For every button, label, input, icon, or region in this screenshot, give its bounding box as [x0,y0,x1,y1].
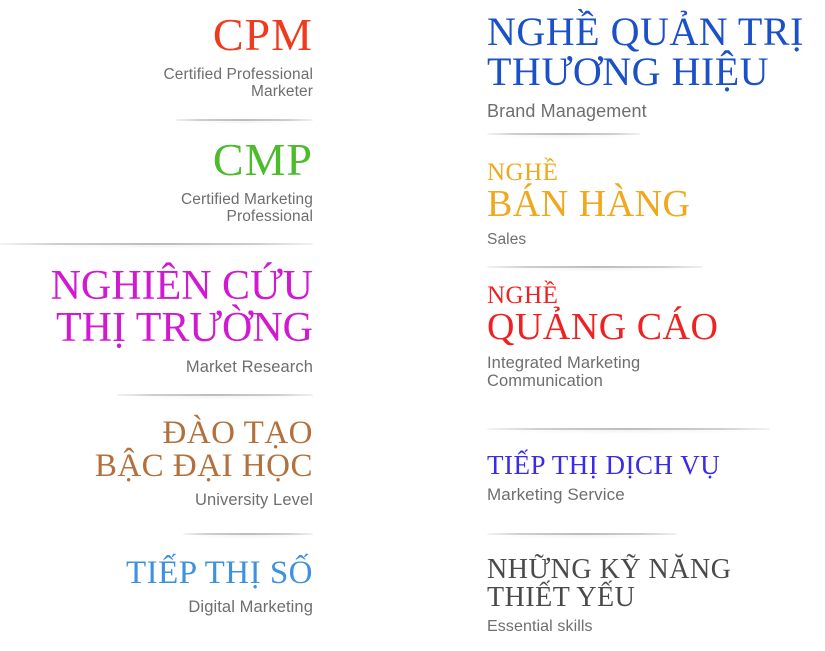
entry-university-level[interactable]: ĐÀO TẠO BẬC ĐẠI HỌC University Level [95,417,313,509]
entry-cpm-subtitle-line-2: Marketer [163,83,313,100]
entry-brand-management-subtitle-line-1: Brand Management [487,101,804,121]
entry-university-level-subtitle: University Level [95,491,313,509]
entry-market-research-title: NGHIÊN CỨU THỊ TRƯỜNG [51,265,313,349]
entry-market-research-title-line-2: THỊ TRƯỜNG [51,307,313,349]
entry-advertising-title-line-1: NGHỀ [487,283,718,308]
entry-cpm-subtitle: Certified Professional Marketer [163,66,313,101]
entry-cpm-title: CPM [163,12,313,58]
entry-advertising-subtitle: Integrated Marketing Communication [487,354,718,391]
entry-cpm-subtitle-line-1: Certified Professional [163,66,313,83]
left-divider-2 [0,243,313,245]
entry-essential-skills-title-line-2: THIẾT YẾU [487,584,731,612]
left-divider-4 [183,533,313,535]
entry-cmp-title: CMP [181,137,313,183]
entry-sales-title-line-2: BÁN HÀNG [487,185,691,223]
entry-cmp[interactable]: CMP Certified Marketing Professional [181,137,313,226]
entry-digital-marketing-subtitle-line-1: Digital Marketing [126,598,313,616]
entry-essential-skills-title-line-1: NHỮNG KỸ NĂNG [487,556,731,584]
entry-brand-management-title-line-1: NGHỀ QUẢN TRỊ [487,12,804,52]
entry-sales-subtitle: Sales [487,231,691,248]
poster-canvas: CPM Certified Professional Marketer CMP … [0,0,825,651]
entry-marketing-service-title: TIẾP THỊ DỊCH VỤ [487,452,720,479]
entry-essential-skills[interactable]: NHỮNG KỸ NĂNG THIẾT YẾU Essential skills [487,556,731,636]
entry-advertising-subtitle-line-2: Communication [487,372,718,390]
entry-university-level-title-line-1: ĐÀO TẠO [95,417,313,450]
right-divider-2 [487,266,703,268]
entry-marketing-service-title-line-1: TIẾP THỊ DỊCH VỤ [487,452,720,479]
entry-essential-skills-title: NHỮNG KỸ NĂNG THIẾT YẾU [487,556,731,612]
entry-market-research[interactable]: NGHIÊN CỨU THỊ TRƯỜNG Market Research [51,265,313,376]
left-divider-1 [175,119,313,121]
entry-cmp-subtitle: Certified Marketing Professional [181,191,313,226]
entry-sales-title: NGHỀ BÁN HÀNG [487,160,691,223]
entry-market-research-subtitle: Market Research [51,358,313,376]
entry-advertising-subtitle-line-1: Integrated Marketing [487,354,718,372]
entry-digital-marketing-subtitle: Digital Marketing [126,598,313,616]
entry-sales-subtitle-line-1: Sales [487,231,691,248]
entry-marketing-service[interactable]: TIẾP THỊ DỊCH VỤ Marketing Service [487,452,720,504]
entry-brand-management-title: NGHỀ QUẢN TRỊ THƯƠNG HIỆU [487,12,804,92]
entry-sales[interactable]: NGHỀ BÁN HÀNG Sales [487,160,691,248]
entry-essential-skills-subtitle: Essential skills [487,618,731,636]
entry-brand-management[interactable]: NGHỀ QUẢN TRỊ THƯƠNG HIỆU Brand Manageme… [487,12,804,121]
entry-marketing-service-subtitle: Marketing Service [487,485,720,504]
entry-cpm[interactable]: CPM Certified Professional Marketer [163,12,313,101]
entry-digital-marketing-title-line-1: TIẾP THỊ SỐ [126,557,313,590]
entry-essential-skills-subtitle-line-1: Essential skills [487,618,731,636]
entry-brand-management-title-line-2: THƯƠNG HIỆU [487,52,804,92]
entry-digital-marketing[interactable]: TIẾP THỊ SỐ Digital Marketing [126,557,313,616]
right-divider-1 [487,133,640,135]
entry-market-research-subtitle-line-1: Market Research [51,358,313,376]
entry-cmp-title-line-1: CMP [181,137,313,183]
entry-advertising-title: NGHỀ QUẢNG CÁO [487,283,718,346]
entry-advertising-title-line-2: QUẢNG CÁO [487,308,718,346]
entry-brand-management-subtitle: Brand Management [487,101,804,121]
entry-market-research-title-line-1: NGHIÊN CỨU [51,265,313,307]
entry-cpm-title-line-1: CPM [163,12,313,58]
entry-sales-title-line-1: NGHỀ [487,160,691,185]
right-divider-4 [487,533,677,535]
entry-digital-marketing-title: TIẾP THỊ SỐ [126,557,313,590]
left-divider-3 [117,394,313,396]
entry-university-level-title-line-2: BẬC ĐẠI HỌC [95,450,313,483]
entry-advertising[interactable]: NGHỀ QUẢNG CÁO Integrated Marketing Comm… [487,283,718,391]
entry-university-level-title: ĐÀO TẠO BẬC ĐẠI HỌC [95,417,313,483]
right-divider-3 [487,428,770,430]
entry-cmp-subtitle-line-1: Certified Marketing [181,191,313,208]
entry-university-level-subtitle-line-1: University Level [95,491,313,509]
entry-cmp-subtitle-line-2: Professional [181,208,313,225]
entry-marketing-service-subtitle-line-1: Marketing Service [487,485,720,504]
